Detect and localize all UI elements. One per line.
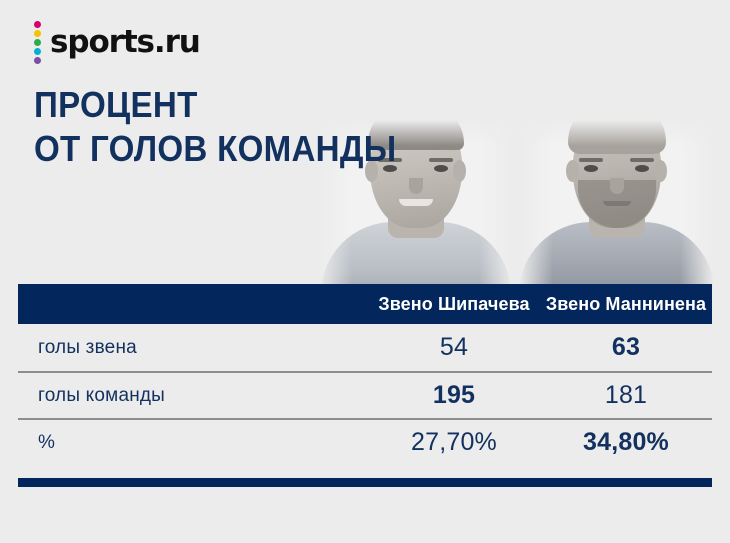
brand-name: sports.ru [50,27,200,58]
player-photo-manninen [519,120,714,290]
row-label-line-goals: голы звена [38,337,368,359]
logo-dots [34,20,41,64]
value-line-goals-shipachev: 54 [368,333,540,362]
table-row: % 27,70% 34,80% [18,418,712,465]
value-line-goals-manninen: 63 [540,333,712,362]
row-label-team-goals: голы команды [38,385,368,407]
brow-left [579,158,603,162]
infographic-canvas: sports.ru ПРОЦЕНТ ОТ ГОЛОВ КОМАНДЫ [0,0,730,543]
logo-dot-3 [34,39,41,46]
ear-right [453,160,466,182]
ear-left [566,160,579,182]
page-title: ПРОЦЕНТ ОТ ГОЛОВ КОМАНДЫ [34,83,396,171]
photo-fade-top [519,120,714,146]
table-row: голы звена 54 63 [18,324,712,371]
mouth-shape [603,201,631,206]
mouth-shape [399,199,433,206]
brow-right [630,158,654,162]
logo-dot-5 [34,57,41,64]
value-team-goals-manninen: 181 [540,381,712,410]
table-row: голы команды 195 181 [18,371,712,418]
logo-dot-2 [34,30,41,37]
value-team-goals-shipachev: 195 [368,381,540,410]
logo-dot-4 [34,48,41,55]
eye-right [434,165,448,172]
logo-dot-1 [34,21,41,28]
table-bottom-bar [18,478,712,487]
stats-table: Звено Шипачева Звено Маннинена голы звен… [18,284,712,487]
ear-right [654,160,667,182]
nose-shape [409,178,423,194]
row-label-percent: % [38,432,368,454]
brand-logo[interactable]: sports.ru [34,20,200,64]
value-percent-manninen: 34,80% [540,428,712,457]
value-percent-shipachev: 27,70% [368,428,540,457]
nose-shape [610,178,624,194]
brow-right [429,158,453,162]
eye-right [635,165,649,172]
column-header-manninen: Звено Маннинена [540,294,712,315]
column-header-shipachev: Звено Шипачева [368,294,540,315]
eye-left [584,165,598,172]
table-header-row: Звено Шипачева Звено Маннинена [18,284,712,324]
